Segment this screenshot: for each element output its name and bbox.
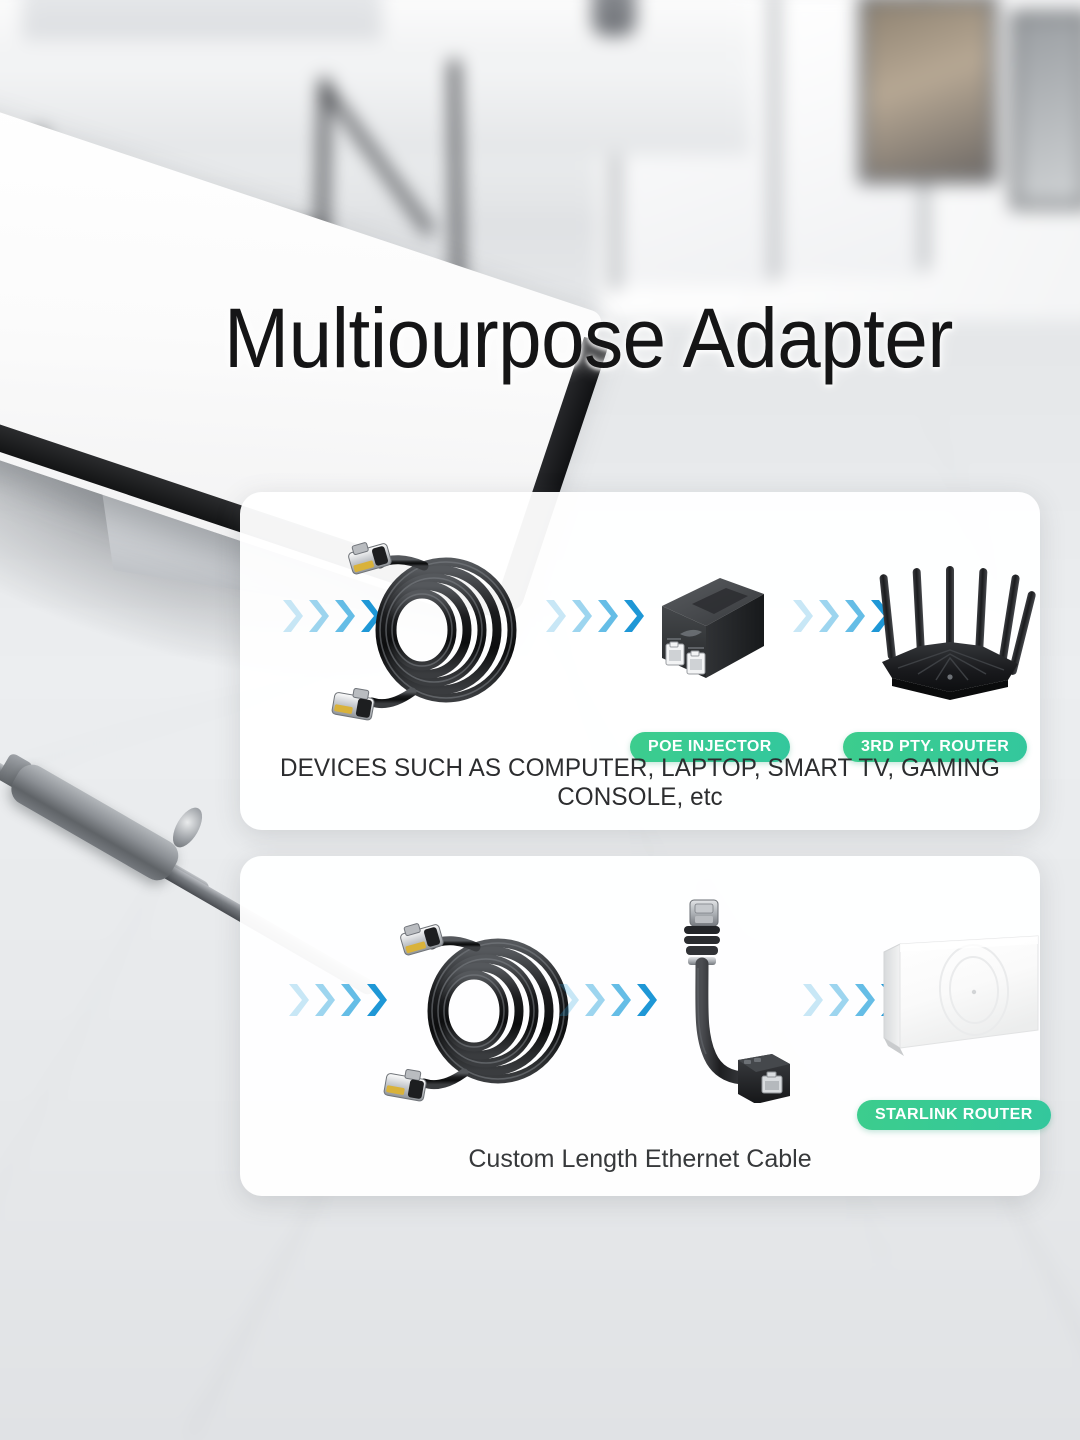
- chevron-group: [558, 981, 658, 1019]
- chevron-right-icon: [584, 981, 606, 1019]
- chevron-right-icon: [610, 981, 632, 1019]
- badge-starlink-router: STARLINK ROUTER: [857, 1100, 1051, 1130]
- chevron-right-icon: [802, 981, 824, 1019]
- card-caption-top: DEVICES SUCH AS COMPUTER, LAPTOP, SMART …: [252, 754, 1028, 812]
- chevron-right-icon: [314, 981, 336, 1019]
- ethernet-cable-coil: [328, 530, 548, 730]
- window-frame: [770, 0, 779, 280]
- chevron-right-icon: [854, 981, 876, 1019]
- chevron-right-icon: [308, 597, 330, 635]
- infographic-stage: Multiourpose Adapter: [0, 0, 1080, 1440]
- chevron-right-icon: [636, 981, 658, 1019]
- console-table-body: [0, 60, 750, 155]
- chevron-right-icon: [545, 597, 567, 635]
- chevron-right-icon: [792, 597, 814, 635]
- starlink-adapter-cable: [664, 898, 794, 1103]
- flow-card-top: POE INJECTOR 3RD PTY. ROUTER DEVICES SUC…: [240, 492, 1040, 830]
- chevron-right-icon: [571, 597, 593, 635]
- page-title: Multiourpose Adapter: [224, 292, 1024, 384]
- framed-art: [22, 0, 382, 40]
- chevron-right-icon: [288, 981, 310, 1019]
- third-party-router: [858, 550, 1038, 705]
- chevron-right-icon: [818, 597, 840, 635]
- card-caption-bottom: Custom Length Ethernet Cable: [240, 1145, 1040, 1174]
- chevron-right-icon: [828, 981, 850, 1019]
- wall-picture: [858, 0, 998, 184]
- chevron-right-icon: [558, 981, 580, 1019]
- chevron-right-icon: [597, 597, 619, 635]
- chevron-right-icon: [282, 597, 304, 635]
- poe-injector: [644, 560, 774, 700]
- vase: [592, 0, 636, 36]
- chevron-right-icon: [623, 597, 645, 635]
- wall-picture: [1010, 10, 1080, 210]
- chevron-right-icon: [340, 981, 362, 1019]
- chevron-group: [545, 597, 645, 635]
- mast-grip: [6, 759, 185, 886]
- flow-card-bottom: STARLINK ROUTER Custom Length Ethernet C…: [240, 856, 1040, 1196]
- starlink-router: [878, 934, 1048, 1074]
- chevron-group: [288, 981, 388, 1019]
